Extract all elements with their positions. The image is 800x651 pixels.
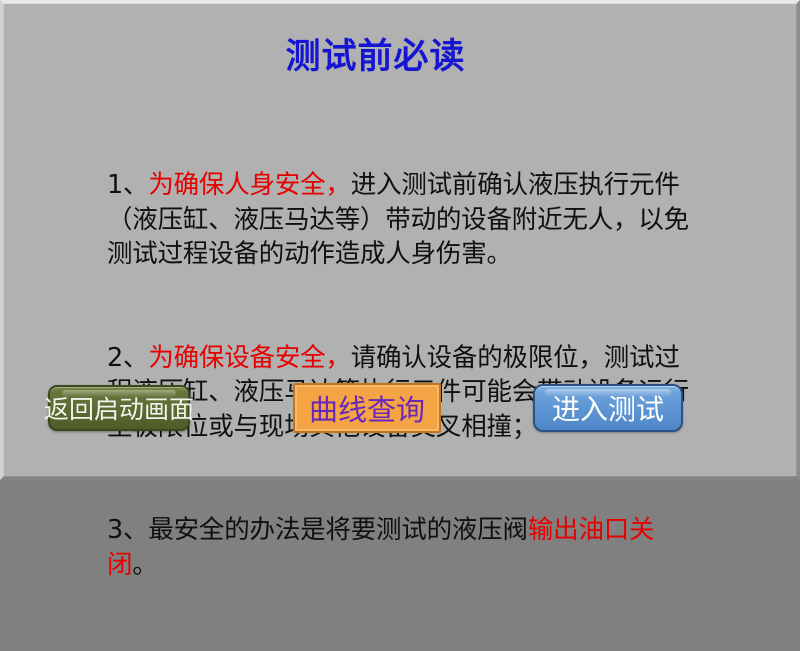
notice-item-3-suffix: 。 [132,550,157,580]
curve-query-button-label: 曲线查询 [309,387,425,429]
notice-line-3: 3、最安全的办法是将要测试的液压阀输出油口关闭。 [107,513,699,582]
enter-test-button-label: 进入测试 [552,388,664,428]
enter-test-button[interactable]: 进入测试 [533,384,683,432]
curve-query-button[interactable]: 曲线查询 [293,383,441,433]
notice-item-1-number: 1、 [107,170,148,200]
notice-item-2-number: 2、 [107,343,148,373]
hmi-screen: 测试前必读 1、为确保人身安全，进入测试前确认液压执行元件（液压缸、液压马达等）… [0,0,800,480]
return-to-start-screen-button-label: 返回启动画面 [44,390,194,426]
notice-line-1: 1、为确保人身安全，进入测试前确认液压执行元件（液压缸、液压马达等）带动的设备附… [107,168,699,272]
page-title: 测试前必读 [3,37,748,77]
return-to-start-screen-button[interactable]: 返回启动画面 [48,385,190,431]
notice-item-1-highlight: 为确保人身安全， [148,170,350,200]
notice-item-3-number: 3、 [107,515,148,545]
notice-item-2-highlight: 为确保设备安全， [148,343,350,373]
safety-notice-text: 1、为确保人身安全，进入测试前确认液压执行元件（液压缸、液压马达等）带动的设备附… [107,99,699,651]
notice-item-3-prefix: 最安全的办法是将要测试的液压阀 [148,515,528,545]
